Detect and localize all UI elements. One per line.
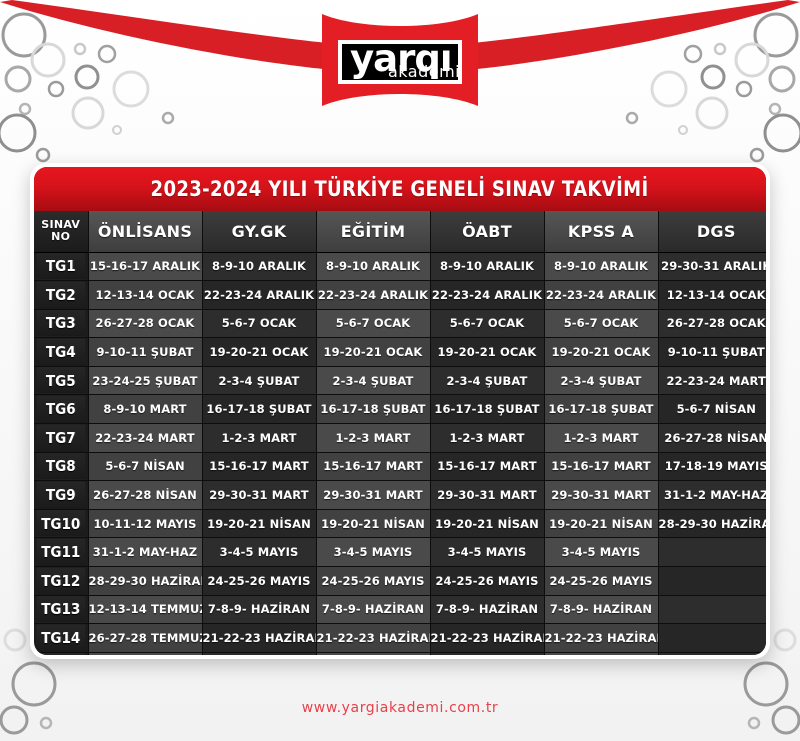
cell-tg11-kpssa: 3-4-5 MAYIS <box>544 538 658 567</box>
cell-tg11-gygk: 3-4-5 MAYIS <box>202 538 316 567</box>
row-label-tg13: TG13 <box>37 595 86 624</box>
row-label-tg10: TG10 <box>37 509 86 538</box>
cell-tg9-oabt: 29-30-31 MART <box>430 481 544 510</box>
cell-tg1-oabt: 8-9-10 ARALIK <box>430 252 544 281</box>
cell-tg2-oabt: 22-23-24 ARALIK <box>430 281 544 310</box>
cell-tg2-onlisans: 12-13-14 OCAK <box>88 281 202 310</box>
cell-tg2-kpssa: 22-23-24 ARALIK <box>544 281 658 310</box>
cell-tg14-kpssa: 21-22-23 HAZİRAN <box>544 624 658 653</box>
cell-tg8-egitim: 15-16-17 MART <box>316 452 430 481</box>
cell-tg4-dgs: 9-10-11 ŞUBAT <box>658 338 766 367</box>
cell-tg6-oabt: 16-17-18 ŞUBAT <box>430 395 544 424</box>
cell-tg9-dgs: 31-1-2 MAY-HAZ <box>658 481 766 510</box>
table-row: TG926-27-28 NİSAN29-30-31 MART29-30-31 M… <box>34 481 766 510</box>
table-row: TG523-24-25 ŞUBAT2-3-4 ŞUBAT2-3-4 ŞUBAT2… <box>34 366 766 395</box>
row-label-tg9: TG9 <box>37 481 86 510</box>
cell-tg12-oabt: 24-25-26 MAYIS <box>430 567 544 596</box>
cell-tg6-dgs: 5-6-7 NİSAN <box>658 395 766 424</box>
column-header-gygk: GY.GK <box>202 211 316 252</box>
table-row: TG115-16-17 ARALIK8-9-10 ARALIK8-9-10 AR… <box>34 252 766 281</box>
row-label-tg7: TG7 <box>37 424 86 453</box>
cell-tg5-onlisans: 23-24-25 ŞUBAT <box>88 366 202 395</box>
row-label-tg4: TG4 <box>37 338 86 367</box>
cell-tg14-oabt: 21-22-23 HAZİRAN <box>430 624 544 653</box>
row-label-tg12: TG12 <box>37 567 86 596</box>
cell-tg15-gygk: 5-6-7 TEMMUZ <box>202 652 316 655</box>
cell-tg8-dgs: 17-18-19 MAYIS <box>658 452 766 481</box>
calendar-title-bar: 2023-2024 YILI TÜRKİYE GENELİ SINAV TAKV… <box>34 167 766 211</box>
row-label-tg5: TG5 <box>37 366 86 395</box>
cell-tg13-dgs <box>658 595 766 624</box>
row-label-tg15: TG15 <box>37 652 86 655</box>
cell-tg1-gygk: 8-9-10 ARALIK <box>202 252 316 281</box>
cell-tg5-dgs: 22-23-24 MART <box>658 366 766 395</box>
cell-tg4-oabt: 19-20-21 OCAK <box>430 338 544 367</box>
cell-tg14-gygk: 21-22-23 HAZİRAN <box>202 624 316 653</box>
column-header-oabt: ÖABT <box>430 211 544 252</box>
cell-tg10-oabt: 19-20-21 NİSAN <box>430 509 544 538</box>
cell-tg7-dgs: 26-27-28 NİSAN <box>658 424 766 453</box>
cell-tg15-onlisans: 2-3-4 AĞUSTOS <box>88 652 202 655</box>
cell-tg13-onlisans: 12-13-14 TEMMUZ <box>88 595 202 624</box>
table-row: TG68-9-10 MART16-17-18 ŞUBAT16-17-18 ŞUB… <box>34 395 766 424</box>
page-title: 2023-2024 YILI TÜRKİYE GENELİ SINAV TAKV… <box>151 177 649 201</box>
row-label-tg1: TG1 <box>37 252 86 281</box>
table-body: TG115-16-17 ARALIK8-9-10 ARALIK8-9-10 AR… <box>34 252 766 655</box>
column-header-egitim: EĞİTİM <box>316 211 430 252</box>
cell-tg5-kpssa: 2-3-4 ŞUBAT <box>544 366 658 395</box>
cell-tg15-dgs <box>658 652 766 655</box>
website-url[interactable]: www.yargiakademi.com.tr <box>0 700 800 716</box>
cell-tg5-oabt: 2-3-4 ŞUBAT <box>430 366 544 395</box>
cell-tg12-dgs <box>658 567 766 596</box>
cell-tg14-onlisans: 26-27-28 TEMMUZ <box>88 624 202 653</box>
exam-calendar-card: 2023-2024 YILI TÜRKİYE GENELİ SINAV TAKV… <box>30 163 770 659</box>
table-row: TG1010-11-12 MAYIS19-20-21 NİSAN19-20-21… <box>34 509 766 538</box>
cell-tg1-dgs: 29-30-31 ARALIK <box>658 252 766 281</box>
cell-tg13-egitim: 7-8-9- HAZİRAN <box>316 595 430 624</box>
row-label-tg8: TG8 <box>37 452 86 481</box>
cell-tg12-egitim: 24-25-26 MAYIS <box>316 567 430 596</box>
row-label-tg11: TG11 <box>37 538 86 567</box>
cell-tg4-egitim: 19-20-21 OCAK <box>316 338 430 367</box>
cell-tg3-kpssa: 5-6-7 OCAK <box>544 309 658 338</box>
cell-tg9-onlisans: 26-27-28 NİSAN <box>88 481 202 510</box>
table-header: SINAV NO ÖNLİSANS GY.GK EĞİTİM ÖABT KPSS… <box>34 211 766 252</box>
cell-tg6-gygk: 16-17-18 ŞUBAT <box>202 395 316 424</box>
cell-tg8-kpssa: 15-16-17 MART <box>544 452 658 481</box>
cell-tg12-kpssa: 24-25-26 MAYIS <box>544 567 658 596</box>
cell-tg1-onlisans: 15-16-17 ARALIK <box>88 252 202 281</box>
cell-tg7-gygk: 1-2-3 MART <box>202 424 316 453</box>
cell-tg7-kpssa: 1-2-3 MART <box>544 424 658 453</box>
column-header-onlisans: ÖNLİSANS <box>88 211 202 252</box>
cell-tg9-kpssa: 29-30-31 MART <box>544 481 658 510</box>
cell-tg3-gygk: 5-6-7 OCAK <box>202 309 316 338</box>
cell-tg4-gygk: 19-20-21 OCAK <box>202 338 316 367</box>
row-label-tg6: TG6 <box>37 395 86 424</box>
cell-tg4-kpssa: 19-20-21 OCAK <box>544 338 658 367</box>
cell-tg8-onlisans: 5-6-7 NİSAN <box>88 452 202 481</box>
table-row: TG212-13-14 OCAK22-23-24 ARALIK22-23-24 … <box>34 281 766 310</box>
cell-tg14-egitim: 21-22-23 HAZİRAN <box>316 624 430 653</box>
cell-tg6-kpssa: 16-17-18 ŞUBAT <box>544 395 658 424</box>
cell-tg7-oabt: 1-2-3 MART <box>430 424 544 453</box>
cell-tg8-oabt: 15-16-17 MART <box>430 452 544 481</box>
exam-schedule-table: SINAV NO ÖNLİSANS GY.GK EĞİTİM ÖABT KPSS… <box>34 211 766 655</box>
cell-tg15-kpssa: 5-6-7 TEMMUZ <box>544 652 658 655</box>
table-row: TG1131-1-2 MAY-HAZ3-4-5 MAYIS3-4-5 MAYIS… <box>34 538 766 567</box>
cell-tg13-kpssa: 7-8-9- HAZİRAN <box>544 595 658 624</box>
column-header-kpssa: KPSS A <box>544 211 658 252</box>
cell-tg14-dgs <box>658 624 766 653</box>
cell-tg11-egitim: 3-4-5 MAYIS <box>316 538 430 567</box>
cell-tg2-egitim: 22-23-24 ARALIK <box>316 281 430 310</box>
cell-tg3-oabt: 5-6-7 OCAK <box>430 309 544 338</box>
row-label-tg3: TG3 <box>37 309 86 338</box>
table-row: TG326-27-28 OCAK5-6-7 OCAK5-6-7 OCAK5-6-… <box>34 309 766 338</box>
column-header-sinav-no: SINAV NO <box>34 211 88 252</box>
cell-tg8-gygk: 15-16-17 MART <box>202 452 316 481</box>
cell-tg5-gygk: 2-3-4 ŞUBAT <box>202 366 316 395</box>
row-label-tg14: TG14 <box>37 624 86 653</box>
cell-tg13-gygk: 7-8-9- HAZİRAN <box>202 595 316 624</box>
cell-tg10-dgs: 28-29-30 HAZİRAN <box>658 509 766 538</box>
cell-tg1-egitim: 8-9-10 ARALIK <box>316 252 430 281</box>
yarqi-akademi-logo: yarqı akademi R <box>316 8 484 112</box>
cell-tg12-onlisans: 28-29-30 HAZİRAN <box>88 567 202 596</box>
cell-tg1-kpssa: 8-9-10 ARALIK <box>544 252 658 281</box>
cell-tg10-kpssa: 19-20-21 NİSAN <box>544 509 658 538</box>
column-header-dgs: DGS <box>658 211 766 252</box>
cell-tg13-oabt: 7-8-9- HAZİRAN <box>430 595 544 624</box>
table-row: TG1312-13-14 TEMMUZ7-8-9- HAZİRAN7-8-9- … <box>34 595 766 624</box>
cell-tg6-onlisans: 8-9-10 MART <box>88 395 202 424</box>
cell-tg7-egitim: 1-2-3 MART <box>316 424 430 453</box>
cell-tg11-dgs <box>658 538 766 567</box>
cell-tg3-onlisans: 26-27-28 OCAK <box>88 309 202 338</box>
row-label-tg2: TG2 <box>37 281 86 310</box>
cell-tg7-onlisans: 22-23-24 MART <box>88 424 202 453</box>
cell-tg6-egitim: 16-17-18 ŞUBAT <box>316 395 430 424</box>
cell-tg10-onlisans: 10-11-12 MAYIS <box>88 509 202 538</box>
cell-tg11-onlisans: 31-1-2 MAY-HAZ <box>88 538 202 567</box>
table-row: TG1426-27-28 TEMMUZ21-22-23 HAZİRAN21-22… <box>34 624 766 653</box>
cell-tg3-dgs: 26-27-28 OCAK <box>658 309 766 338</box>
table-row: TG49-10-11 ŞUBAT19-20-21 OCAK19-20-21 OC… <box>34 338 766 367</box>
header-row: SINAV NO ÖNLİSANS GY.GK EĞİTİM ÖABT KPSS… <box>34 211 766 252</box>
cell-tg3-egitim: 5-6-7 OCAK <box>316 309 430 338</box>
cell-tg5-egitim: 2-3-4 ŞUBAT <box>316 366 430 395</box>
cell-tg10-gygk: 19-20-21 NİSAN <box>202 509 316 538</box>
sinav-no-line1: SINAV <box>41 218 80 231</box>
logo-sub-text: akademi <box>388 62 460 81</box>
cell-tg10-egitim: 19-20-21 NİSAN <box>316 509 430 538</box>
logo-registered-mark: R <box>464 32 469 40</box>
table-row: TG1228-29-30 HAZİRAN24-25-26 MAYIS24-25-… <box>34 567 766 596</box>
cell-tg2-gygk: 22-23-24 ARALIK <box>202 281 316 310</box>
table-row: TG152-3-4 AĞUSTOS5-6-7 TEMMUZ5-6-7 TEMMU… <box>34 652 766 655</box>
cell-tg15-egitim: 5-6-7 TEMMUZ <box>316 652 430 655</box>
table-row: TG722-23-24 MART1-2-3 MART1-2-3 MART1-2-… <box>34 424 766 453</box>
sinav-no-line2: NO <box>51 230 70 243</box>
cell-tg4-onlisans: 9-10-11 ŞUBAT <box>88 338 202 367</box>
table-row: TG85-6-7 NİSAN15-16-17 MART15-16-17 MART… <box>34 452 766 481</box>
cell-tg9-gygk: 29-30-31 MART <box>202 481 316 510</box>
cell-tg11-oabt: 3-4-5 MAYIS <box>430 538 544 567</box>
cell-tg2-dgs: 12-13-14 OCAK <box>658 281 766 310</box>
cell-tg9-egitim: 29-30-31 MART <box>316 481 430 510</box>
cell-tg12-gygk: 24-25-26 MAYIS <box>202 567 316 596</box>
cell-tg15-oabt: 5-6-7 TEMMUZ <box>430 652 544 655</box>
